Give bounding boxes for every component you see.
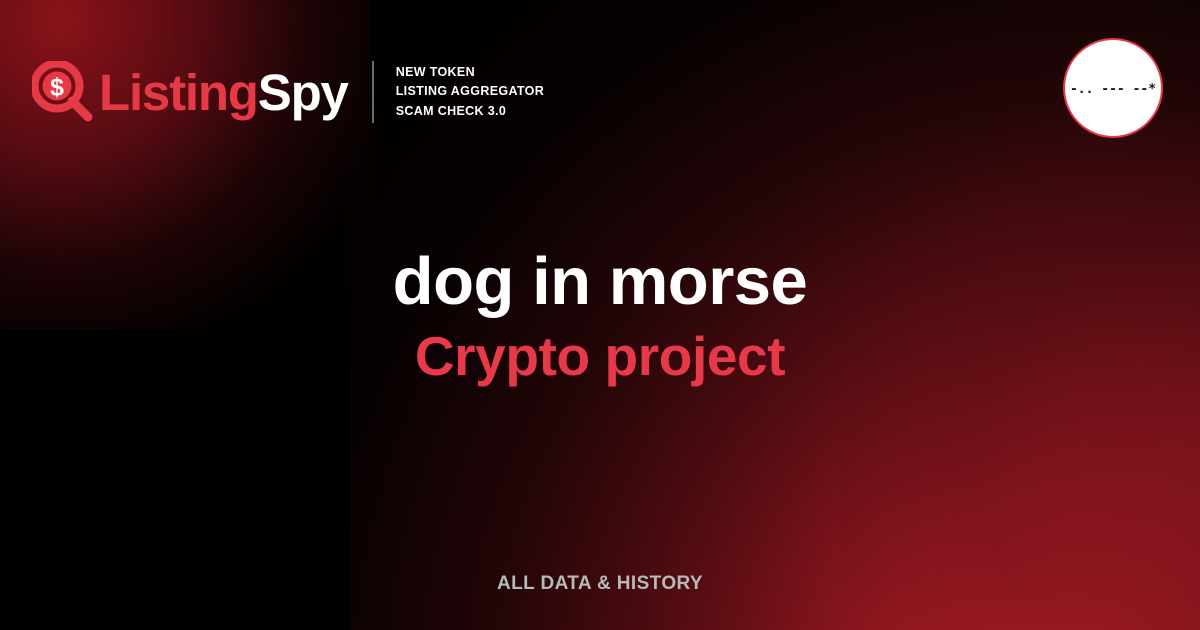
wordmark-listing: Listing bbox=[99, 64, 258, 121]
tagline-line-1: NEW TOKEN bbox=[396, 63, 544, 82]
brand-header: $ ListingSpy NEW TOKEN LISTING AGGREGATO… bbox=[32, 52, 544, 132]
wordmark-spy: Spy bbox=[258, 64, 348, 121]
brand-tagline: NEW TOKEN LISTING AGGREGATOR SCAM CHECK … bbox=[396, 63, 544, 121]
brand-wordmark: ListingSpy bbox=[99, 67, 348, 118]
page-title: dog in morse bbox=[0, 246, 1200, 317]
svg-text:$: $ bbox=[50, 74, 64, 102]
token-logo-morse-text: -.. --- --* bbox=[1070, 82, 1156, 97]
footer-label: ALL DATA & HISTORY bbox=[497, 573, 703, 594]
main-content: dog in morse Crypto project bbox=[0, 246, 1200, 387]
token-logo-badge: -.. --- --* bbox=[1063, 38, 1163, 138]
og-card: $ ListingSpy NEW TOKEN LISTING AGGREGATO… bbox=[0, 0, 1200, 630]
header-divider bbox=[372, 61, 374, 123]
tagline-line-3: SCAM CHECK 3.0 bbox=[396, 102, 544, 121]
footer: ALL DATA & HISTORY bbox=[0, 573, 1200, 595]
page-subtitle: Crypto project bbox=[0, 326, 1200, 387]
tagline-line-2: LISTING AGGREGATOR bbox=[396, 82, 544, 101]
magnifier-dollar-icon: $ bbox=[32, 61, 94, 123]
